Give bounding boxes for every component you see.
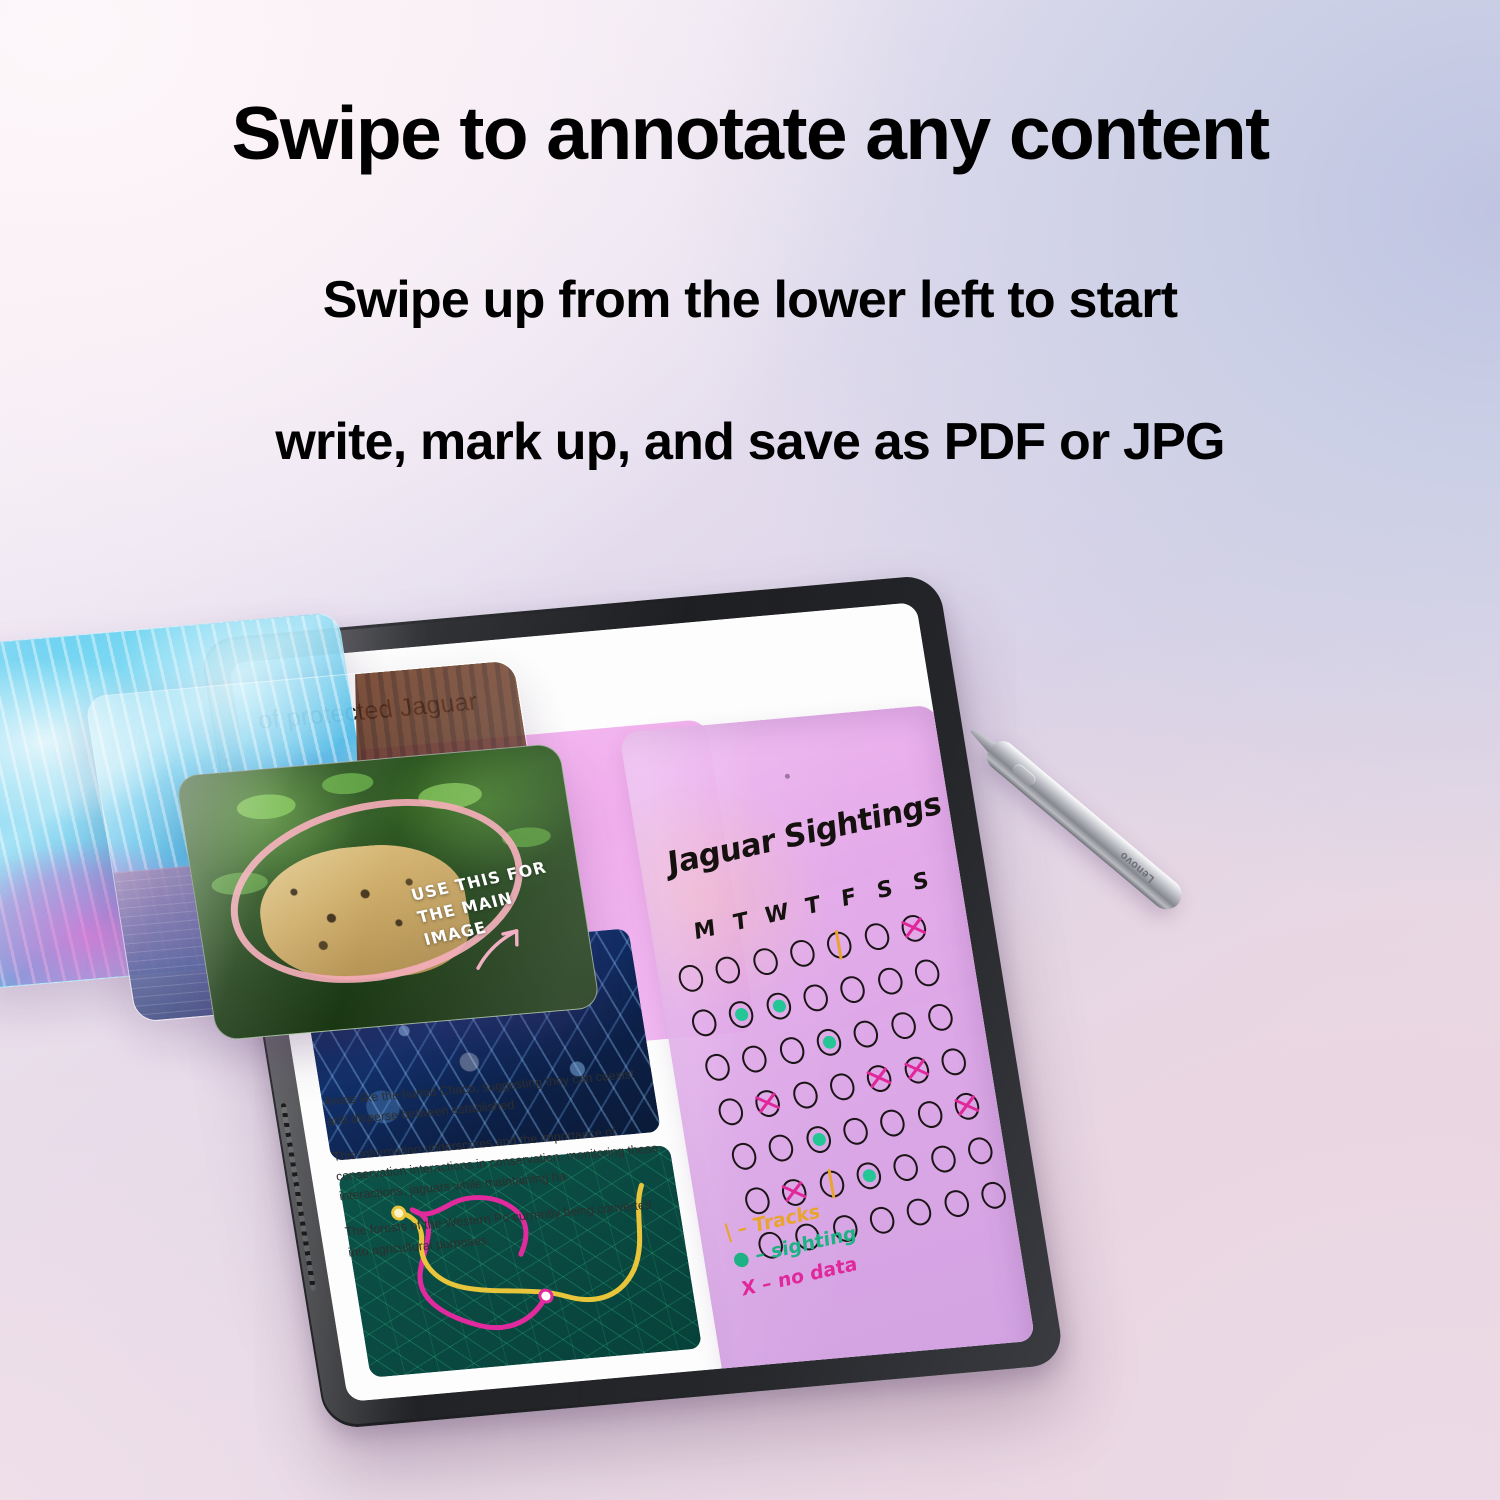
document-body-text: Areas like the humid Chaco, suggesting t…	[322, 1062, 682, 1278]
circle-mark-icon	[928, 1144, 959, 1175]
circle-mark-icon	[941, 1188, 972, 1219]
circle-mark-icon	[729, 1141, 760, 1172]
circle-mark-icon	[676, 963, 707, 994]
circle-mark-icon	[787, 938, 818, 969]
circle-mark-icon	[827, 1071, 858, 1102]
headings-block: Swipe to annotate any content Swipe up f…	[0, 0, 1500, 468]
circle-mark-icon	[739, 1043, 770, 1074]
stylus-body: Lenovo	[982, 736, 1188, 916]
circle-mark-icon	[790, 1080, 821, 1111]
no-data-x-icon	[897, 913, 930, 944]
circle-mark-icon	[702, 1052, 733, 1083]
circle-mark-icon	[912, 957, 943, 988]
page-title: Swipe to annotate any content	[0, 0, 1500, 171]
circle-mark-icon	[840, 1116, 871, 1147]
document-paragraph: The forests of the Western Po currently …	[344, 1193, 680, 1262]
product-scene: of protected Jaguar	[0, 560, 1500, 1500]
stylus-pen[interactable]: Lenovo	[959, 719, 1188, 919]
circle-mark-icon	[837, 974, 868, 1005]
circle-mark-icon	[890, 1152, 921, 1183]
no-data-x-icon	[900, 1054, 933, 1085]
circle-mark-icon	[867, 1205, 898, 1236]
jaguar-jungle-layer[interactable]: Use this for the main image	[175, 743, 600, 1041]
document-paragraph: This information underscores and the imp…	[331, 1118, 670, 1207]
circle-mark-icon	[861, 921, 892, 952]
no-data-x-icon	[950, 1091, 983, 1122]
circle-mark-icon	[800, 982, 831, 1013]
arrow-annotation-icon	[465, 916, 535, 975]
circle-mark-icon	[914, 1099, 945, 1130]
circle-mark-icon	[874, 966, 905, 997]
circle-mark-icon	[888, 1010, 919, 1041]
circle-mark-icon	[713, 954, 744, 985]
circle-mark-icon	[938, 1046, 969, 1077]
circle-mark-icon	[978, 1180, 1009, 1211]
circle-mark-icon	[689, 1007, 720, 1038]
circle-mark-icon	[877, 1107, 908, 1138]
subtitle-line-1: Swipe up from the lower left to start	[0, 171, 1500, 326]
stylus-brand-label: Lenovo	[1118, 849, 1158, 885]
no-data-x-icon	[863, 1063, 896, 1094]
circle-mark-icon	[750, 946, 781, 977]
no-data-x-icon	[752, 1088, 785, 1119]
circle-mark-icon	[715, 1096, 746, 1127]
circle-mark-icon	[776, 1035, 807, 1066]
circle-mark-icon	[904, 1196, 935, 1227]
circle-mark-icon	[766, 1132, 797, 1163]
circle-mark-icon	[965, 1135, 996, 1166]
promo-image-root: Swipe to annotate any content Swipe up f…	[0, 0, 1500, 1500]
circle-mark-icon	[851, 1018, 882, 1049]
circle-mark-icon	[925, 1002, 956, 1033]
subtitle-line-2: write, mark up, and save as PDF or JPG	[0, 326, 1500, 468]
